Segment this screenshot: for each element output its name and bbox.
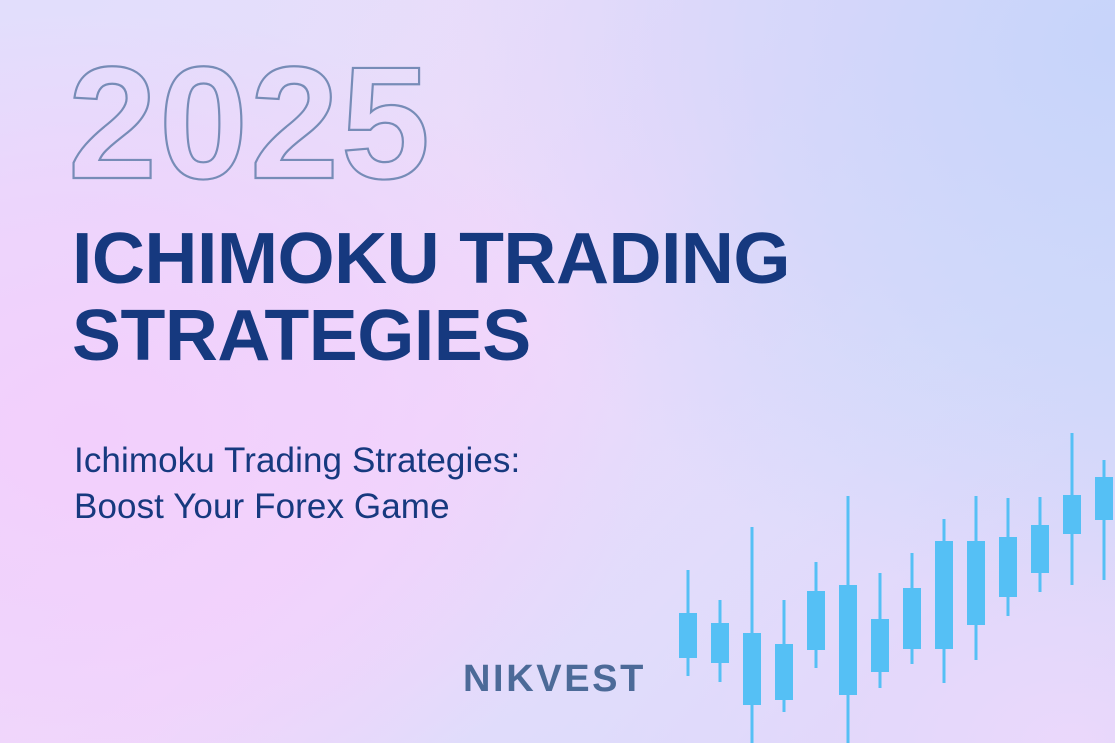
- candlestick: [711, 600, 729, 682]
- candle-body: [775, 644, 793, 700]
- candlestick: [903, 553, 921, 664]
- brand-wordmark: NIKVEST: [463, 660, 646, 698]
- cover-canvas: 2025 ICHIMOKU TRADING STRATEGIES Ichimok…: [0, 0, 1115, 743]
- candlestick: [807, 562, 825, 668]
- candlestick-chart: [660, 0, 1115, 743]
- subtitle-line-2: Boost Your Forex Game: [74, 484, 714, 530]
- candle-body: [903, 588, 921, 649]
- candlestick: [679, 570, 697, 676]
- headline-line-1: ICHIMOKU TRADING: [72, 224, 1112, 295]
- candle-body: [807, 591, 825, 650]
- candle-body: [1031, 525, 1049, 573]
- candlestick: [1063, 433, 1081, 585]
- candlestick: [839, 496, 857, 743]
- headline-line-2: STRATEGIES: [72, 301, 1112, 372]
- candle-body: [711, 623, 729, 663]
- candlestick: [1031, 497, 1049, 592]
- candle-body: [871, 619, 889, 672]
- candlestick: [935, 519, 953, 683]
- candle-body: [1095, 477, 1113, 520]
- page-title: ICHIMOKU TRADING STRATEGIES: [72, 224, 1092, 371]
- candle-body: [1063, 495, 1081, 534]
- candle-body: [967, 541, 985, 625]
- candle-body: [935, 541, 953, 649]
- candlestick: [871, 573, 889, 688]
- candlestick: [743, 527, 761, 743]
- candlestick: [999, 498, 1017, 616]
- year-label: 2025: [68, 33, 432, 212]
- year-outline-text: 2025: [68, 54, 508, 204]
- candle-body: [999, 537, 1017, 597]
- candle-body: [839, 585, 857, 695]
- candlestick: [1095, 460, 1113, 580]
- subtitle: Ichimoku Trading Strategies: Boost Your …: [74, 438, 714, 529]
- candlestick: [967, 496, 985, 660]
- candle-body: [743, 633, 761, 705]
- candle-body: [679, 613, 697, 658]
- subtitle-line-1: Ichimoku Trading Strategies:: [74, 438, 714, 484]
- candlestick: [775, 600, 793, 712]
